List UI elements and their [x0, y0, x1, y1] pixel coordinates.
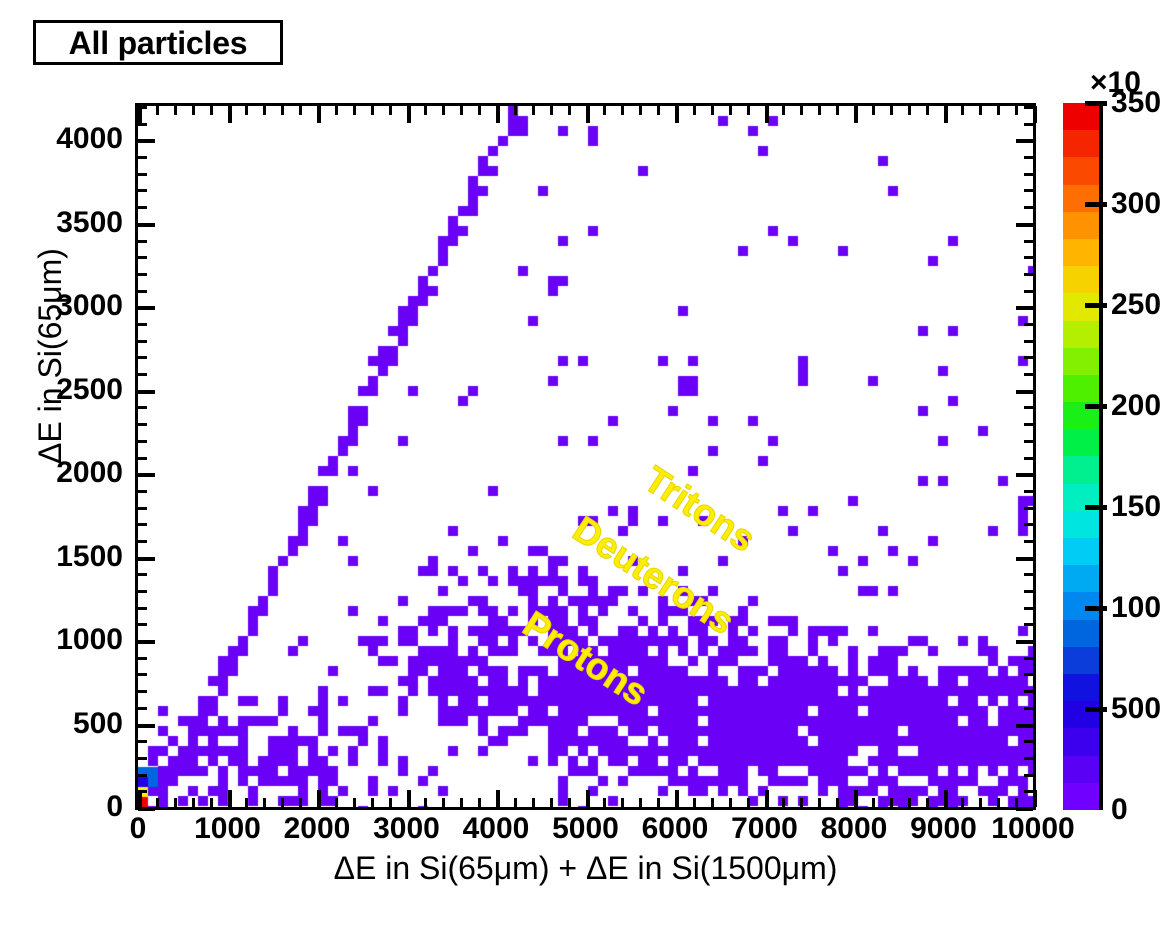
colorbar-swatch — [1063, 429, 1099, 456]
x-tick-label: 1000 — [194, 814, 261, 844]
colorbar-tick — [1085, 707, 1107, 712]
colorbar-swatch — [1063, 728, 1099, 755]
colorbar-swatch — [1063, 756, 1099, 783]
colorbar-swatch — [1063, 456, 1099, 483]
colorbar-tick-label: 100 — [1111, 593, 1161, 623]
x-tick-label: 4000 — [463, 814, 530, 844]
colorbar-swatch — [1063, 103, 1099, 130]
colorbar-tick — [1085, 202, 1107, 207]
x-axis-title: ΔE in Si(65μm) + ΔE in Si(1500μm) — [135, 852, 1036, 884]
colorbar-tick-label: 200 — [1111, 391, 1161, 421]
y-tick-left — [138, 807, 155, 811]
colorbar-gradient — [1063, 103, 1099, 810]
y-tick-right — [1016, 807, 1033, 811]
colorbar-swatch — [1063, 212, 1099, 239]
histogram-canvas — [138, 106, 1033, 807]
colorbar-swatch — [1063, 130, 1099, 157]
colorbar-swatch — [1063, 157, 1099, 184]
colorbar-tick — [1085, 101, 1107, 106]
colorbar-swatch — [1063, 674, 1099, 701]
colorbar-axis-line — [1099, 103, 1103, 810]
colorbar-swatch — [1063, 185, 1099, 212]
colorbar-swatch — [1063, 565, 1099, 592]
x-tick-bottom — [1033, 790, 1037, 807]
colorbar: 0500100150200250300350 — [1063, 103, 1099, 810]
x-tick-label: 9000 — [910, 814, 977, 844]
x-tick-label: 10000 — [991, 814, 1074, 844]
colorbar-tick — [1085, 303, 1107, 308]
y-tick-label: 0 — [0, 792, 123, 822]
colorbar-swatch — [1063, 239, 1099, 266]
colorbar-tick-label: 150 — [1111, 492, 1161, 522]
x-tick-label: 2000 — [284, 814, 351, 844]
colorbar-tick-label: 0 — [1111, 795, 1128, 825]
colorbar-tick-label: 350 — [1111, 88, 1161, 118]
x-tick-label: 7000 — [731, 814, 798, 844]
colorbar-swatch — [1063, 538, 1099, 565]
colorbar-tick-label: 500 — [1111, 694, 1161, 724]
colorbar-swatch — [1063, 321, 1099, 348]
colorbar-swatch — [1063, 511, 1099, 538]
x-tick-label: 5000 — [552, 814, 619, 844]
x-tick-label: 8000 — [821, 814, 888, 844]
colorbar-swatch — [1063, 701, 1099, 728]
colorbar-swatch — [1063, 620, 1099, 647]
colorbar-swatch — [1063, 348, 1099, 375]
colorbar-tick — [1085, 505, 1107, 510]
x-tick-label: 6000 — [642, 814, 709, 844]
y-tick-label: 1000 — [0, 625, 123, 655]
x-tick-label: 0 — [130, 814, 147, 844]
y-tick-label: 500 — [0, 709, 123, 739]
y-axis-title: ΔE in Si(65μm) — [34, 116, 66, 596]
x-tick-top — [1033, 106, 1037, 123]
colorbar-swatch — [1063, 266, 1099, 293]
colorbar-tick-label: 250 — [1111, 290, 1161, 320]
plot-frame: TritonsDeuteronsProtons — [135, 103, 1036, 810]
plot-title-text: All particles — [69, 27, 248, 59]
x-tick-label: 3000 — [373, 814, 440, 844]
colorbar-tick — [1085, 404, 1107, 409]
plot-title-box: All particles — [33, 20, 283, 65]
colorbar-tick — [1085, 606, 1107, 611]
colorbar-swatch — [1063, 375, 1099, 402]
colorbar-tick-label: 300 — [1111, 189, 1161, 219]
colorbar-swatch — [1063, 647, 1099, 674]
colorbar-swatch — [1063, 783, 1099, 810]
